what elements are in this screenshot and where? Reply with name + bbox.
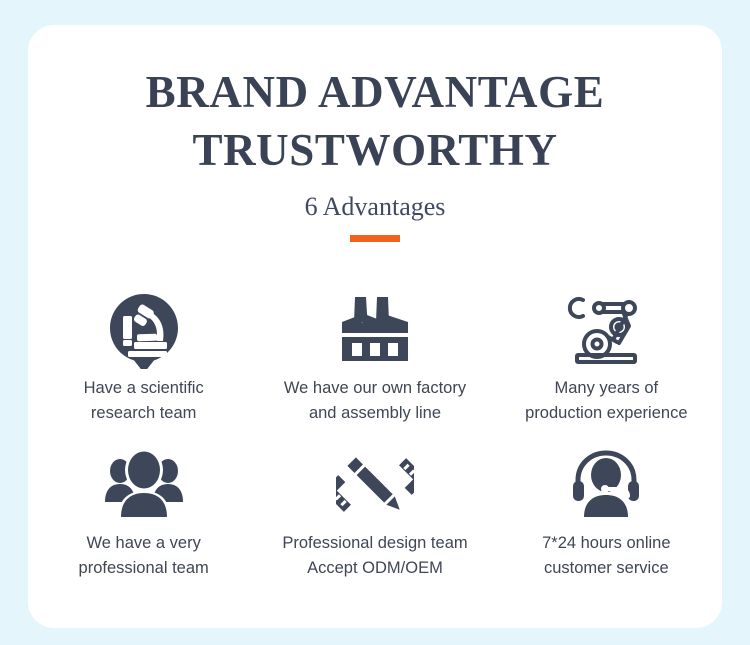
feature-caption: 7*24 hours online customer service [542, 531, 670, 581]
feature-caption-line1: Have a scientific [84, 379, 204, 397]
page-title-line2: TRUSTWORTHY [28, 121, 722, 179]
feature-caption: Many years of production experience [525, 376, 687, 426]
feature-item: Many years of production experience [491, 283, 722, 438]
feature-caption-line1: Professional design team [282, 534, 467, 552]
feature-caption-line1: 7*24 hours online [542, 534, 670, 552]
feature-item: Have a scientific research team [28, 283, 259, 438]
microscope-pin-icon [105, 291, 183, 369]
people-group-icon [104, 446, 184, 524]
feature-caption-line2: customer service [542, 556, 670, 581]
header: BRAND ADVANTAGE TRUSTWORTHY 6 Advantages [28, 63, 722, 242]
feature-grid: Have a scientific research team [28, 283, 722, 593]
feature-caption: Have a scientific research team [84, 376, 204, 426]
feature-item: We have a very professional team [28, 438, 259, 593]
feature-item: Professional design team Accept ODM/OEM [259, 438, 490, 593]
pencil-ruler-icon [336, 446, 414, 524]
factory-icon [336, 291, 414, 369]
feature-caption-line2: production experience [525, 401, 687, 426]
page-background: BRAND ADVANTAGE TRUSTWORTHY 6 Advantages [0, 0, 750, 645]
content-card: BRAND ADVANTAGE TRUSTWORTHY 6 Advantages [28, 25, 722, 628]
feature-caption: Professional design team Accept ODM/OEM [282, 531, 467, 581]
robot-arm-icon [567, 291, 645, 369]
feature-caption-line1: Many years of [555, 379, 659, 397]
feature-caption-line1: We have our own factory [284, 379, 466, 397]
feature-item: 7*24 hours online customer service [491, 438, 722, 593]
page-subtitle: 6 Advantages [28, 190, 722, 224]
feature-caption: We have our own factory and assembly lin… [284, 376, 466, 426]
feature-caption-line1: We have a very [86, 534, 200, 552]
feature-caption-line2: research team [84, 401, 204, 426]
feature-caption: We have a very professional team [79, 531, 209, 581]
feature-caption-line2: Accept ODM/OEM [282, 556, 467, 581]
page-title-line1: BRAND ADVANTAGE [28, 63, 722, 121]
headset-support-icon [567, 446, 645, 524]
accent-bar-divider [350, 235, 400, 242]
feature-item: We have our own factory and assembly lin… [259, 283, 490, 438]
feature-caption-line2: professional team [79, 556, 209, 581]
feature-caption-line2: and assembly line [284, 401, 466, 426]
